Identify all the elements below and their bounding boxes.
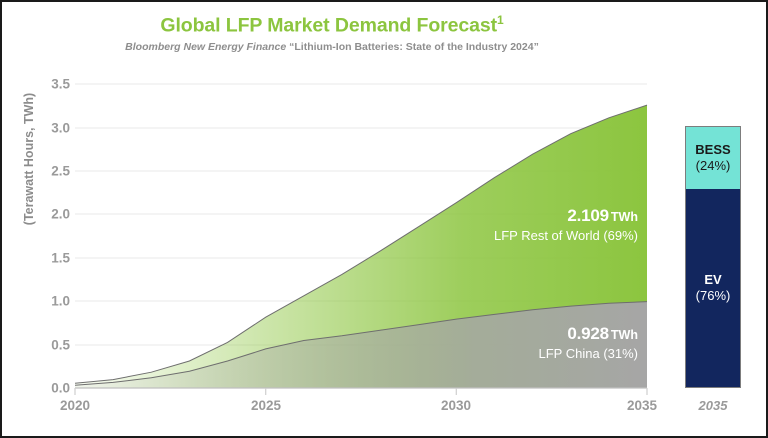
- callout-row-label: LFP Rest of World (69%): [362, 228, 638, 243]
- chart-subtitle: Bloomberg New Energy Finance “Lithium-Io…: [2, 41, 662, 53]
- callout-rest-of-world: 2.109TWh LFP Rest of World (69%): [362, 206, 638, 243]
- bar-segment-bess-label: BESS: [695, 143, 730, 158]
- callout-china-label: LFP China (31%): [382, 346, 638, 361]
- page-title: Global LFP Market Demand Forecast1: [2, 13, 662, 38]
- x-tick-2025: 2025: [251, 398, 281, 413]
- title-footnote-marker: 1: [497, 13, 504, 27]
- x-tick-2035: 2035: [627, 398, 657, 413]
- y-tick-2-5: 2.5: [36, 164, 70, 179]
- bar-segment-bess: BESS (24%): [686, 127, 740, 189]
- x-tick-side-bar-2035: 2035: [699, 398, 728, 413]
- bar-segment-ev-percent: (76%): [696, 288, 731, 304]
- callout-row-value: 2.109: [567, 206, 609, 225]
- callout-china-unit: TWh: [611, 328, 638, 342]
- y-tick-0-5: 0.5: [36, 338, 70, 353]
- stacked-bar-2035: BESS (24%) EV (76%): [685, 126, 741, 388]
- y-tick-2-0: 2.0: [36, 207, 70, 222]
- bar-segment-bess-percent: (24%): [696, 158, 731, 174]
- y-tick-1-0: 1.0: [36, 294, 70, 309]
- x-tick-2030: 2030: [441, 398, 471, 413]
- bar-segment-ev: EV (76%): [686, 189, 740, 387]
- subtitle-report: “Lithium-Ion Batteries: State of the Ind…: [286, 41, 539, 53]
- chart-title-text: Global LFP Market Demand Forecast: [160, 15, 497, 37]
- y-tick-0-0: 0.0: [36, 381, 70, 396]
- callout-china: 0.928TWh LFP China (31%): [382, 324, 638, 361]
- y-axis-ticks: 3.5 3.0 2.5 2.0 1.5 1.0 0.5 0.0: [32, 2, 70, 438]
- subtitle-source: Bloomberg New Energy Finance: [125, 41, 286, 53]
- y-tick-1-5: 1.5: [36, 251, 70, 266]
- x-axis-tick-marks: [75, 388, 647, 395]
- y-tick-3-0: 3.0: [36, 121, 70, 136]
- callout-row-unit: TWh: [611, 210, 638, 224]
- x-tick-2020: 2020: [60, 398, 90, 413]
- callout-china-value: 0.928: [567, 324, 609, 343]
- chart-figure: Global LFP Market Demand Forecast1 Bloom…: [0, 0, 768, 438]
- bar-segment-ev-label: EV: [704, 273, 721, 288]
- y-tick-3-5: 3.5: [36, 77, 70, 92]
